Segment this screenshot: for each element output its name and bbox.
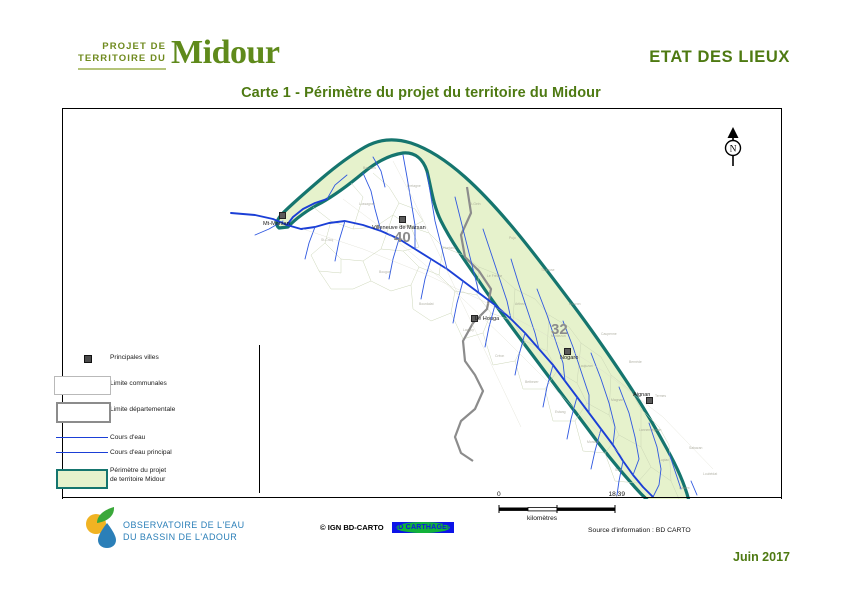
svg-text:Bourdalat: Bourdalat: [419, 302, 434, 306]
brand-logo-word: Midour: [171, 36, 279, 70]
brand-logo-line2: TERRITOIRE DU: [78, 53, 166, 65]
main-watercourse-icon: [64, 444, 110, 462]
svg-text:St-Cricq: St-Cricq: [321, 238, 333, 242]
legend-label-cours-deau-principal: Cours d'eau principal: [110, 449, 172, 458]
svg-text:Hontanx: Hontanx: [443, 246, 456, 250]
commune-boundary-icon: [64, 375, 110, 393]
map-frame-border-bottom-left: [62, 497, 247, 498]
north-arrow-icon: N: [716, 126, 750, 170]
city-marker-aignan: [646, 397, 653, 404]
section-title: ETAT DES LIEUX: [649, 48, 790, 67]
svg-text:Termes: Termes: [655, 394, 666, 398]
legend-item-cours-deau-principal: Cours d'eau principal: [64, 444, 172, 462]
observatory-logo-text: OBSERVATOIRE DE L'EAU DU BASSIN DE L'ADO…: [123, 519, 245, 543]
source-information: Source d'information : BD CARTO: [588, 527, 691, 534]
legend-label-limite-communales: Limite communales: [110, 380, 167, 389]
svg-text:Pujo: Pujo: [509, 236, 516, 240]
city-label-mt-marsan: Mt-Marsan: [263, 221, 290, 227]
bd-carthage-text: BD CARTHAGE®: [393, 524, 452, 531]
svg-text:Sabazan: Sabazan: [689, 446, 702, 450]
brand-logo-prefix: PROJET DE TERRITOIRE DU: [78, 41, 166, 70]
svg-text:Bretagne: Bretagne: [407, 184, 421, 188]
svg-text:Estang: Estang: [555, 410, 566, 414]
city-square-icon: [64, 349, 110, 367]
department-boundary-icon: [64, 401, 110, 419]
svg-text:Caupenne: Caupenne: [601, 332, 617, 336]
svg-text:Le Frèche: Le Frèche: [487, 274, 502, 278]
svg-text:Lupiac: Lupiac: [659, 458, 669, 462]
scalebar-min-label: 0: [497, 491, 501, 498]
legend-item-perimetre-projet: Périmètre du projet de territoire Midour: [64, 467, 166, 489]
publication-date: Juin 2017: [733, 550, 790, 564]
map-title: Carte 1 - Périmètre du projet du territo…: [0, 85, 842, 101]
city-label-nogaro: Nogaro: [560, 355, 578, 361]
svg-text:Monclar: Monclar: [587, 440, 600, 444]
observatory-logo: OBSERVATOIRE DE L'EAU DU BASSIN DE L'ADO…: [84, 503, 264, 555]
svg-text:Lussagnet: Lussagnet: [359, 202, 375, 206]
ign-credit-text: © IGN BD-CARTO: [320, 523, 384, 532]
svg-text:Bougue: Bougue: [379, 270, 391, 274]
legend-label-perimetre-projet-line1: Périmètre du projet: [110, 467, 166, 476]
observatory-line2: DU BASSIN DE L'ADOUR: [123, 531, 245, 543]
svg-text:St-Gein: St-Gein: [469, 202, 481, 206]
department-label-40: 40: [394, 229, 411, 246]
city-label-villeneuve-de-marsan: Villeneuve de Marsan: [372, 225, 426, 231]
brand-logo-line1: PROJET DE: [102, 41, 166, 53]
svg-text:Bascons: Bascons: [363, 166, 376, 170]
svg-text:Magnan: Magnan: [611, 398, 623, 402]
city-label-aignan: Aignan: [633, 392, 650, 398]
map-scalebar: 0 18,39 kilomètres: [497, 495, 617, 529]
map-legend: Principales villes Limite communales Lim…: [64, 343, 264, 493]
city-marker-nogaro: [564, 348, 571, 355]
legend-item-limite-departementale: Limite départementale: [64, 401, 175, 419]
city-label-le-houga: Le Houga: [475, 316, 499, 322]
svg-text:Arthez: Arthez: [515, 302, 525, 306]
legend-label-limite-departementale: Limite départementale: [110, 406, 175, 415]
scalebar-max-label: 18,39: [608, 491, 625, 498]
svg-text:Bouzon: Bouzon: [569, 302, 581, 306]
ign-credit-block: © IGN BD-CARTO BD CARTHAGE®: [320, 522, 454, 533]
svg-text:Bernède: Bernède: [629, 360, 642, 364]
north-arrow-label: N: [730, 144, 737, 154]
brand-logo: PROJET DE TERRITOIRE DU Midour: [78, 36, 279, 70]
city-marker-mt-marsan: [279, 212, 286, 219]
svg-text:Toujouse: Toujouse: [541, 268, 555, 272]
legend-label-cours-deau: Cours d'eau: [110, 434, 145, 443]
svg-text:Sion: Sion: [615, 468, 622, 472]
legend-divider: [259, 345, 260, 493]
svg-text:Créon: Créon: [495, 354, 504, 358]
project-perimeter-icon: [64, 467, 110, 489]
city-marker-villeneuve-de-marsan: [399, 216, 406, 223]
legend-label-principales-villes: Principales villes: [110, 354, 159, 363]
svg-text:Betbezer: Betbezer: [525, 380, 539, 384]
legend-item-limite-communales: Limite communales: [64, 375, 167, 393]
scalebar-units-label: kilomètres: [527, 515, 557, 522]
legend-item-principales-villes: Principales villes: [64, 349, 159, 367]
svg-text:Lannemaignan: Lannemaignan: [639, 428, 662, 432]
bd-carthage-badge: BD CARTHAGE®: [392, 522, 454, 533]
svg-text:Laujuzan: Laujuzan: [579, 364, 593, 368]
svg-text:Castex: Castex: [679, 486, 690, 490]
svg-text:Lacquy: Lacquy: [463, 328, 474, 332]
svg-text:Loubédat: Loubédat: [703, 472, 717, 476]
department-label-32: 32: [551, 321, 568, 338]
legend-label-perimetre-projet-line2: de territoire Midour: [110, 476, 166, 485]
observatory-line1: OBSERVATOIRE DE L'EAU: [123, 519, 245, 531]
